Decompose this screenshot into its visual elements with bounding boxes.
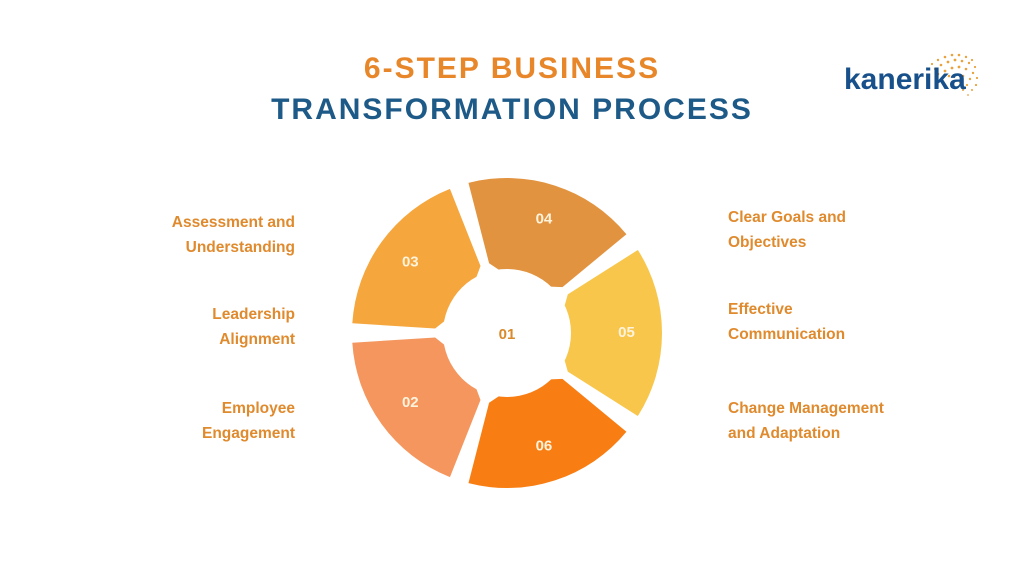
step-label-leadership-alignment: Leadership Alignment [95, 302, 295, 352]
wheel-segment-number-05: 05 [618, 324, 635, 341]
step-label-assessment-and-understanding: Assessment and Understanding [95, 210, 295, 260]
wheel-segment-number-04: 04 [536, 210, 553, 227]
logo-wordmark: kanerika [844, 63, 966, 96]
kanerika-logo: kanerika [836, 44, 986, 106]
step-label-effective-communication: Effective Communication [728, 297, 953, 347]
wheel-center-number: 01 [499, 326, 516, 343]
slide-canvas: 6-STEP BUSINESS TRANSFORMATION PROCESS [0, 0, 1024, 576]
wheel-segment-06[interactable] [468, 379, 626, 488]
step-label-clear-goals-and-objectives: Clear Goals and Objectives [728, 205, 953, 255]
wheel-segment-number-03: 03 [402, 254, 419, 271]
wheel-segment-number-06: 06 [536, 438, 553, 455]
wheel-segment-number-02: 02 [402, 394, 419, 411]
wheel-segment-04[interactable] [468, 178, 626, 287]
step-label-change-management-and-adaptation: Change Management and Adaptation [728, 396, 953, 446]
process-wheel-chart: 01 0203040506 [337, 163, 677, 503]
step-label-employee-engagement: Employee Engagement [95, 396, 295, 446]
